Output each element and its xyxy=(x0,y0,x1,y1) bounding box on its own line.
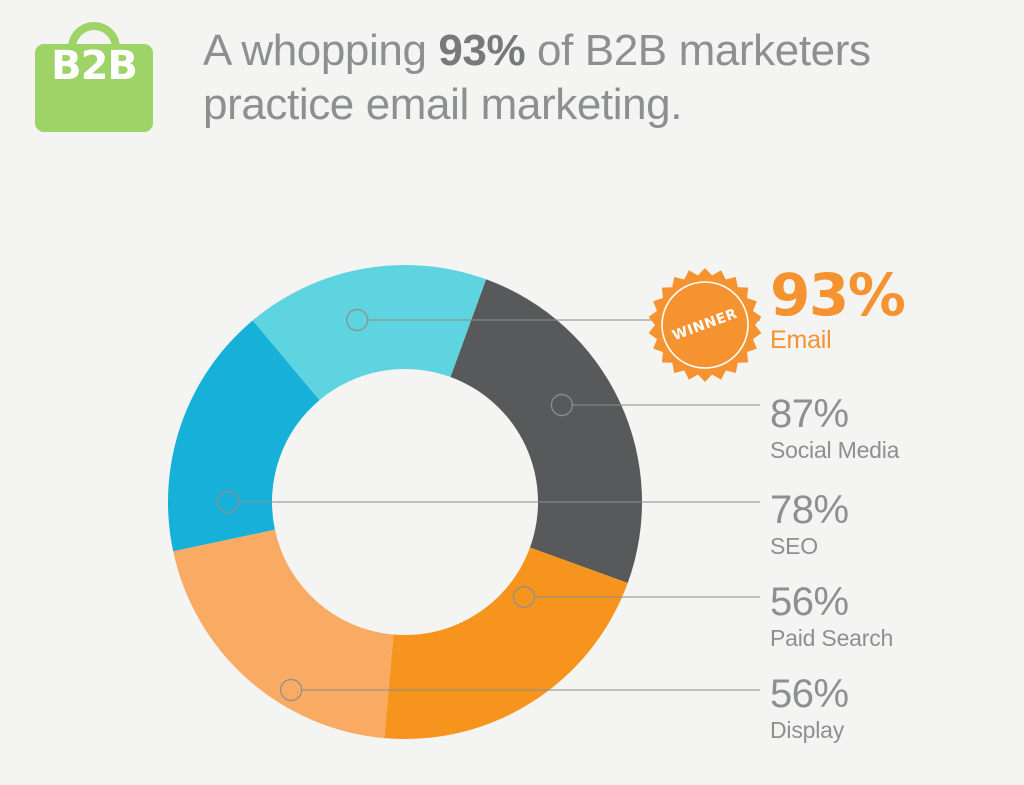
legend-value: 87% xyxy=(770,393,899,435)
legend-item-display[interactable]: 56% Display xyxy=(770,673,849,745)
legend-item-social-media[interactable]: 87% Social Media xyxy=(770,393,899,465)
legend-label: SEO xyxy=(770,531,849,561)
legend-item-email[interactable]: 93% Email xyxy=(770,265,904,355)
infographic-canvas: B2B A whopping 93% of B2B marketers prac… xyxy=(0,0,1024,785)
winner-seal-badge: WINNER xyxy=(648,268,762,382)
legend-value: 56% xyxy=(770,673,849,715)
legend-value: 56% xyxy=(770,581,893,623)
legend-label: Social Media xyxy=(770,435,899,465)
legend-value: 78% xyxy=(770,489,849,531)
legend-label: Email xyxy=(770,325,904,355)
donut-segment-paid-search[interactable] xyxy=(384,547,627,739)
legend-label: Display xyxy=(770,715,849,745)
donut-segment-display[interactable] xyxy=(173,530,393,738)
legend-item-seo[interactable]: 78% SEO xyxy=(770,489,849,561)
legend-item-paid-search[interactable]: 56% Paid Search xyxy=(770,581,893,653)
legend-label: Paid Search xyxy=(770,623,893,653)
legend-value: 93% xyxy=(770,265,904,325)
donut-segment-social-media[interactable] xyxy=(450,279,642,583)
